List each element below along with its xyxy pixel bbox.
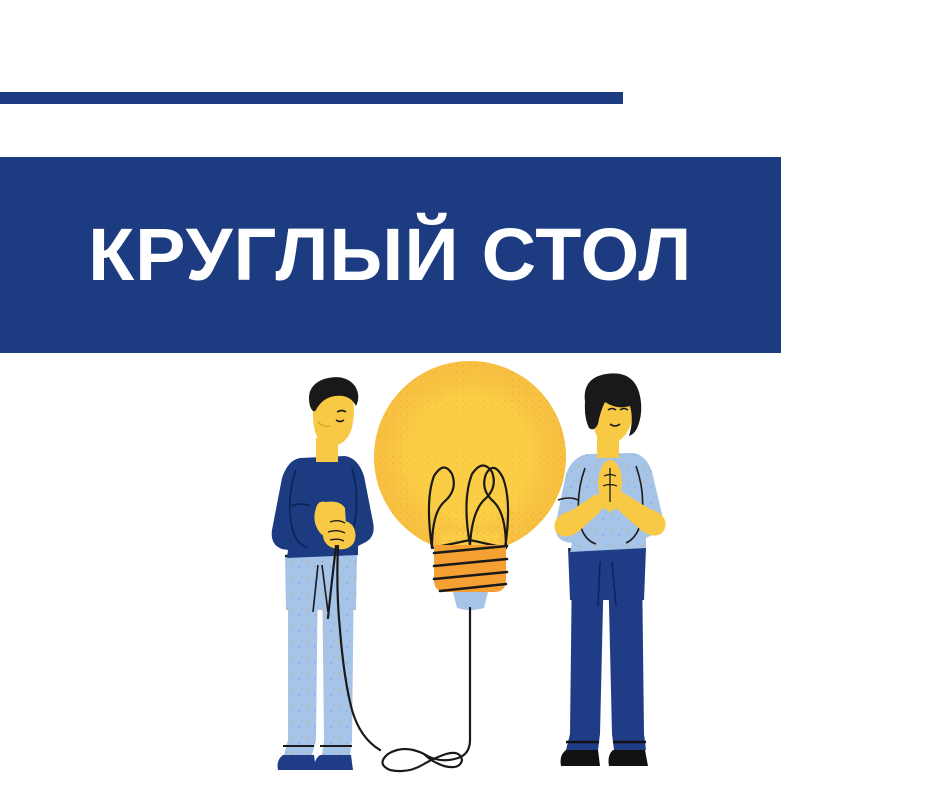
person-right-shoe [561,750,600,766]
person-left [272,377,374,770]
person-right-trousers [568,548,646,600]
accent-rule [0,92,623,104]
page-title: КРУГЛЫЙ СТОЛ [88,218,692,292]
person-left-hand [323,520,356,550]
person-right-shoe [609,750,649,766]
lightbulb [374,361,566,610]
person-left-shoe [315,755,353,770]
person-left-trousers [285,555,357,610]
person-left-shoe [278,755,316,770]
roundtable-lightbulb-illustration [0,350,940,788]
slide-canvas: КРУГЛЫЙ СТОЛ [0,0,940,788]
title-band: КРУГЛЫЙ СТОЛ [0,157,781,353]
person-right [554,373,665,766]
